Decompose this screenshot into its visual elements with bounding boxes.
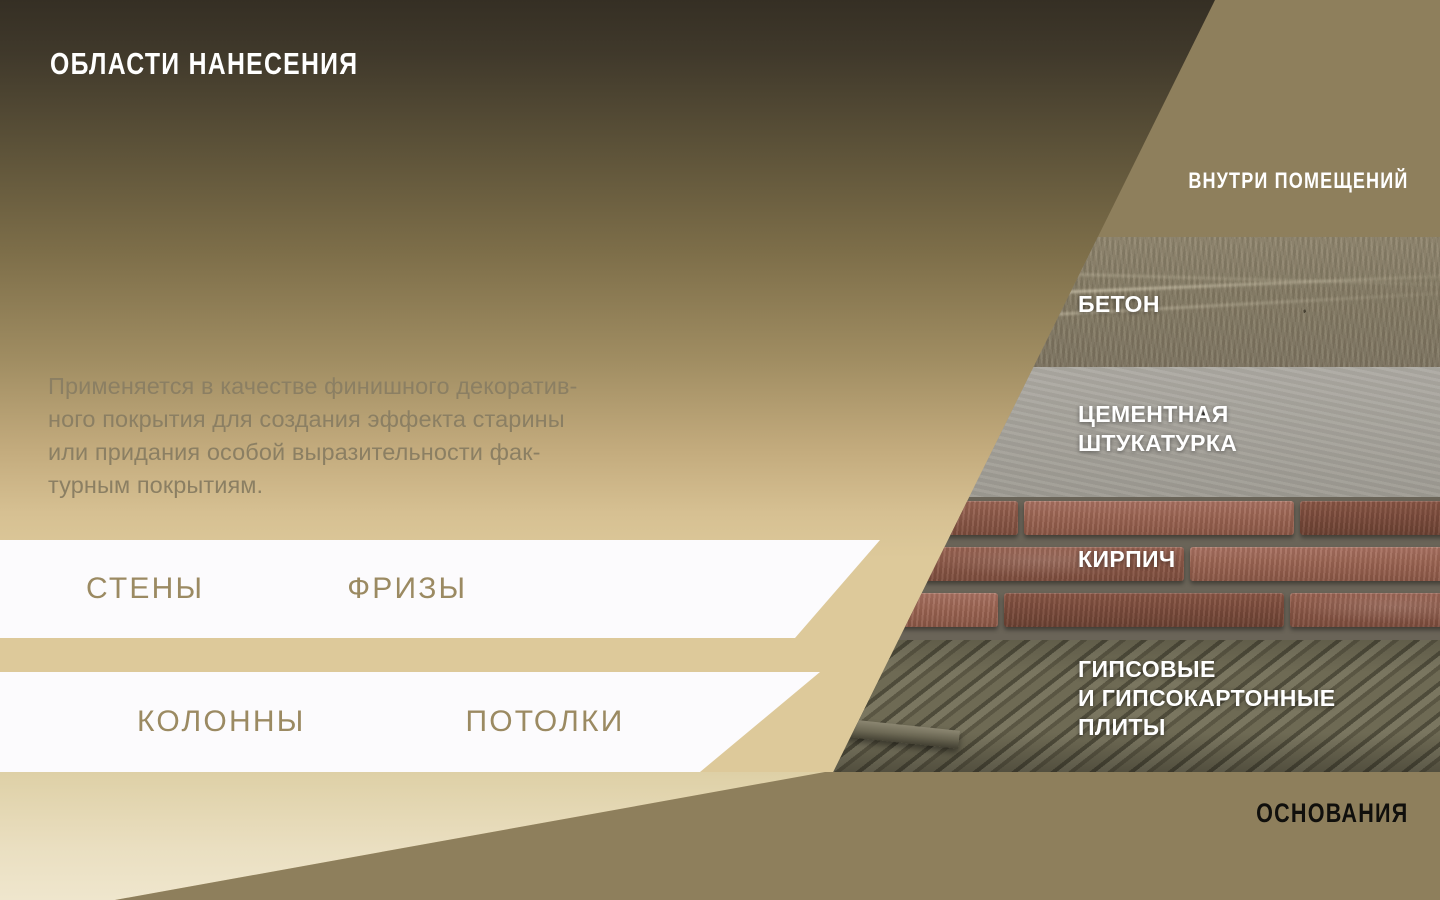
description-line: ного покрытия для создания эффекта стари… bbox=[48, 403, 778, 436]
substrate-label-line: ГИПСОВЫЕ bbox=[1078, 655, 1335, 684]
substrate-label-gypsum-board: ГИПСОВЫЕ И ГИПСОКАРТОННЫЕ ПЛИТЫ bbox=[1078, 655, 1335, 742]
substrate-label-concrete: БЕТОН bbox=[1078, 290, 1160, 319]
substrate-label-line: ЦЕМЕНТНАЯ bbox=[1078, 400, 1237, 429]
substrate-label-brick: КИРПИЧ bbox=[1078, 545, 1176, 574]
substrate-label-line: ПЛИТЫ bbox=[1078, 713, 1335, 742]
substrate-label-line: КИРПИЧ bbox=[1078, 545, 1176, 574]
substrate-label-line: И ГИПСОКАРТОННЫЕ bbox=[1078, 684, 1335, 713]
application-area-columns[interactable]: КОЛОННЫ bbox=[137, 705, 305, 739]
application-areas-row-1: СТЕНЫ ФРИЗЫ bbox=[0, 540, 880, 638]
brick-unit bbox=[1190, 547, 1440, 581]
description-text: Применяется в качестве финишного декорат… bbox=[48, 370, 778, 502]
application-areas-row-2: КОЛОННЫ ПОТОЛКИ bbox=[0, 672, 820, 772]
brick-unit bbox=[1004, 593, 1284, 627]
page-title: ОБЛАСТИ НАНЕСЕНИЯ bbox=[50, 46, 358, 82]
brick-unit bbox=[1024, 501, 1294, 535]
indoor-label: ВНУТРИ ПОМЕЩЕНИЙ bbox=[1188, 168, 1408, 194]
substrates-label: ОСНОВАНИЯ bbox=[1256, 798, 1408, 829]
description-line: Применяется в качестве финишного декорат… bbox=[48, 370, 778, 403]
brick-unit bbox=[1300, 501, 1440, 535]
substrate-label-line: ШТУКАТУРКА bbox=[1078, 429, 1237, 458]
description-line: турным покрытиям. bbox=[48, 469, 778, 502]
infographic-slide: ОБЛАСТИ НАНЕСЕНИЯ Применяется в качестве… bbox=[0, 0, 1440, 900]
application-area-walls[interactable]: СТЕНЫ bbox=[86, 572, 204, 606]
application-area-ceilings[interactable]: ПОТОЛКИ bbox=[465, 705, 624, 739]
description-line: или придания особой выразительности фак- bbox=[48, 436, 778, 469]
application-area-friezes[interactable]: ФРИЗЫ bbox=[347, 572, 467, 606]
substrate-label-cement-plaster: ЦЕМЕНТНАЯ ШТУКАТУРКА bbox=[1078, 400, 1237, 458]
substrate-label-line: БЕТОН bbox=[1078, 290, 1160, 319]
brick-unit bbox=[1290, 593, 1440, 627]
